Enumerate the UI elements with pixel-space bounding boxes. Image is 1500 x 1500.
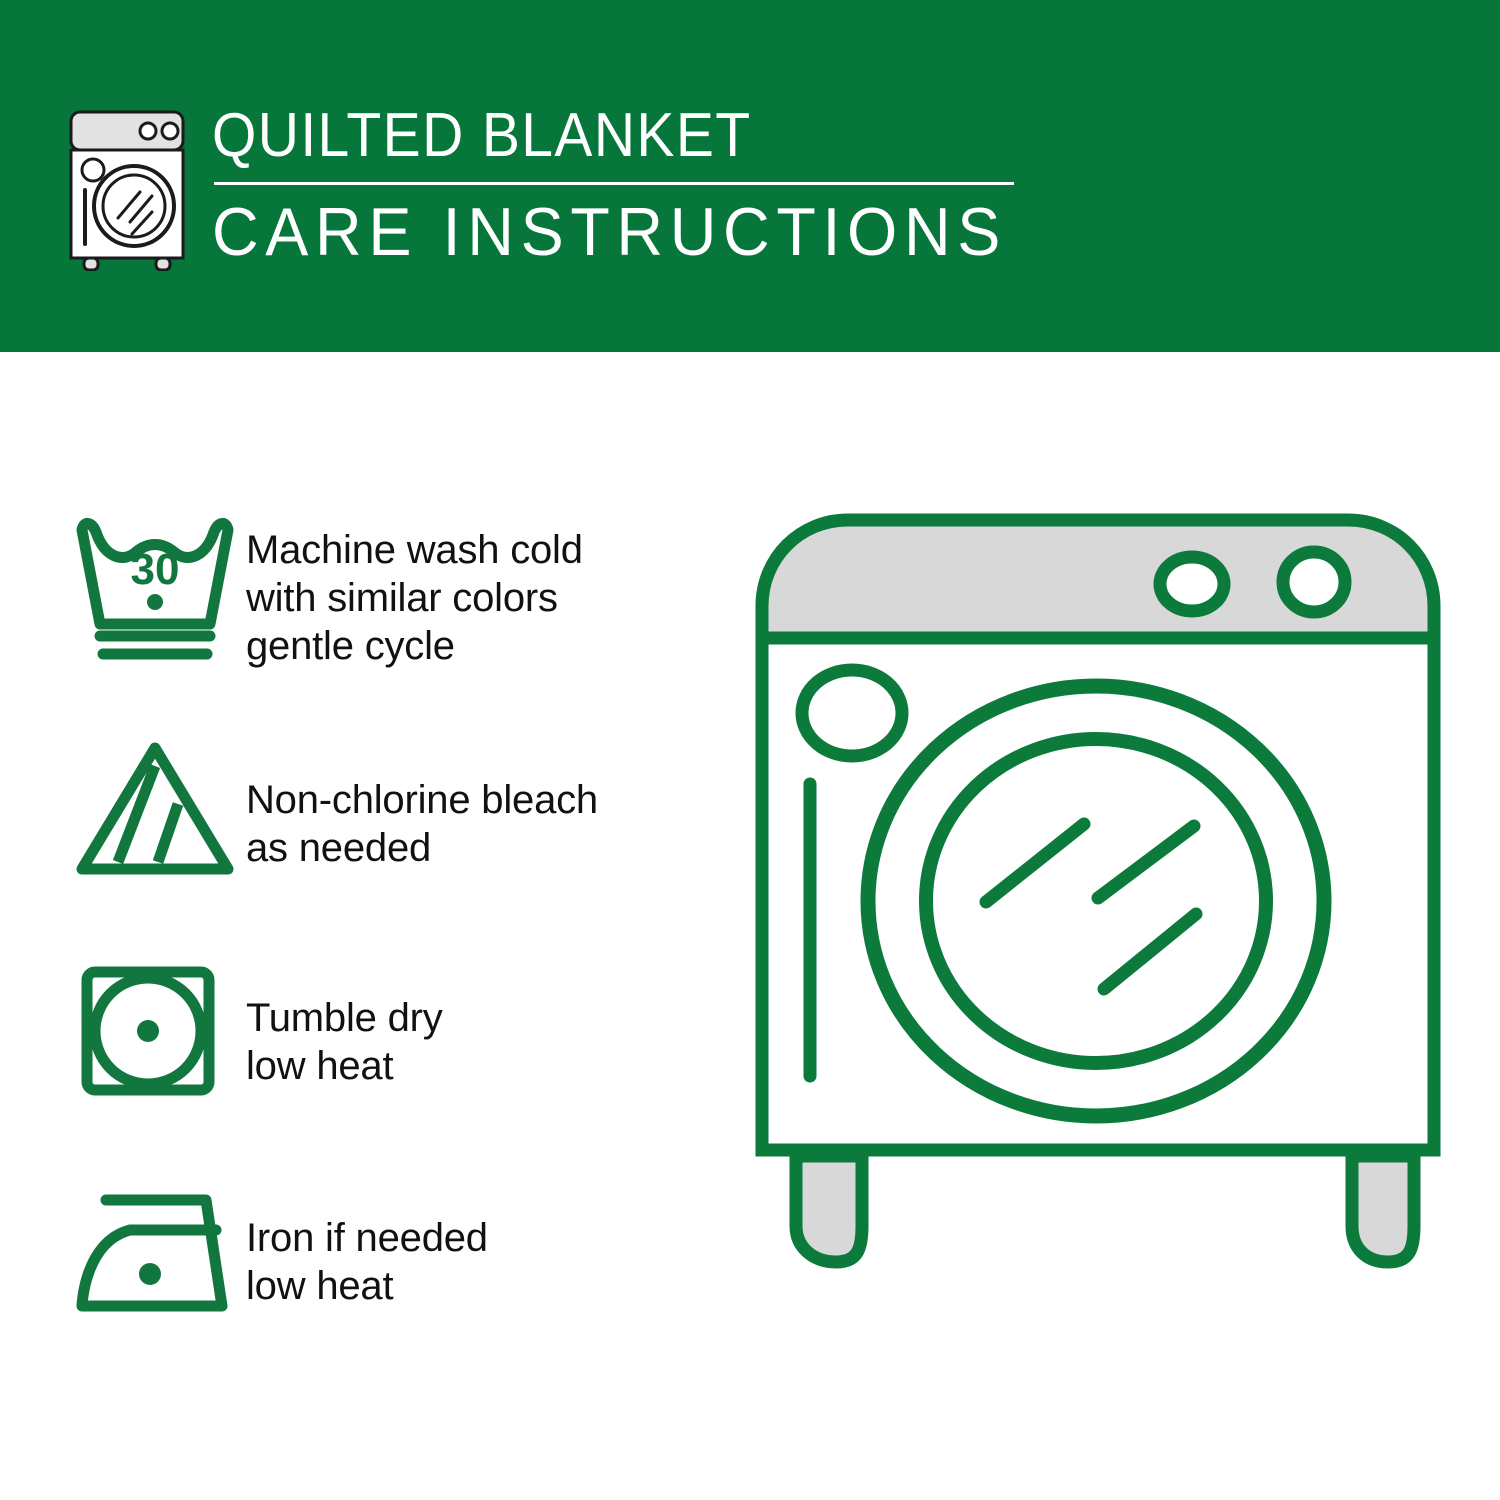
instruction-line: Non-chlorine bleach	[246, 776, 598, 824]
instruction-line: low heat	[246, 1262, 488, 1310]
instruction-text: Non-chlorine bleach as needed	[246, 734, 598, 872]
bleach-triangle-icon	[70, 734, 246, 884]
instruction-list: 30 Machine wash cold with similar colors…	[70, 512, 710, 1328]
instruction-row: Iron if needed low heat	[70, 1178, 710, 1328]
instruction-line: Iron if needed	[246, 1214, 488, 1262]
header-content: QUILTED BLANKET CARE INSTRUCTIONS	[62, 96, 1049, 271]
instruction-row: 30 Machine wash cold with similar colors…	[70, 512, 710, 734]
instruction-line: gentle cycle	[246, 622, 583, 670]
instruction-row: Tumble dry low heat	[70, 956, 710, 1178]
washing-machine-illustration	[748, 506, 1448, 1416]
page-subtitle: CARE INSTRUCTIONS	[212, 193, 1007, 271]
iron-icon	[70, 1178, 246, 1328]
washing-machine-icon	[62, 106, 192, 271]
wash-tub-icon: 30	[70, 512, 246, 662]
instruction-line: Tumble dry	[246, 994, 443, 1042]
instruction-text: Tumble dry low heat	[246, 956, 443, 1090]
instruction-row: Non-chlorine bleach as needed	[70, 734, 710, 956]
control-knob-left	[1160, 557, 1224, 611]
instruction-line: as needed	[246, 824, 598, 872]
page-title: QUILTED BLANKET	[212, 100, 982, 172]
instruction-text: Machine wash cold with similar colors ge…	[246, 512, 583, 670]
instruction-line: with similar colors	[246, 574, 583, 622]
instruction-line: Machine wash cold	[246, 526, 583, 574]
control-knob-right	[1283, 552, 1345, 612]
care-instructions-page: QUILTED BLANKET CARE INSTRUCTIONS 30 Mac…	[0, 0, 1500, 1500]
wash-temperature-label: 30	[131, 545, 180, 594]
leg-left	[796, 1156, 862, 1262]
header-band: QUILTED BLANKET CARE INSTRUCTIONS	[0, 0, 1500, 352]
leg-right	[1352, 1156, 1414, 1262]
instruction-line: low heat	[246, 1042, 443, 1090]
small-dial	[802, 670, 902, 756]
title-divider	[214, 182, 1014, 185]
header-title-group: QUILTED BLANKET CARE INSTRUCTIONS	[212, 96, 1049, 271]
tumble-dry-icon	[70, 956, 246, 1106]
instruction-text: Iron if needed low heat	[246, 1178, 488, 1310]
